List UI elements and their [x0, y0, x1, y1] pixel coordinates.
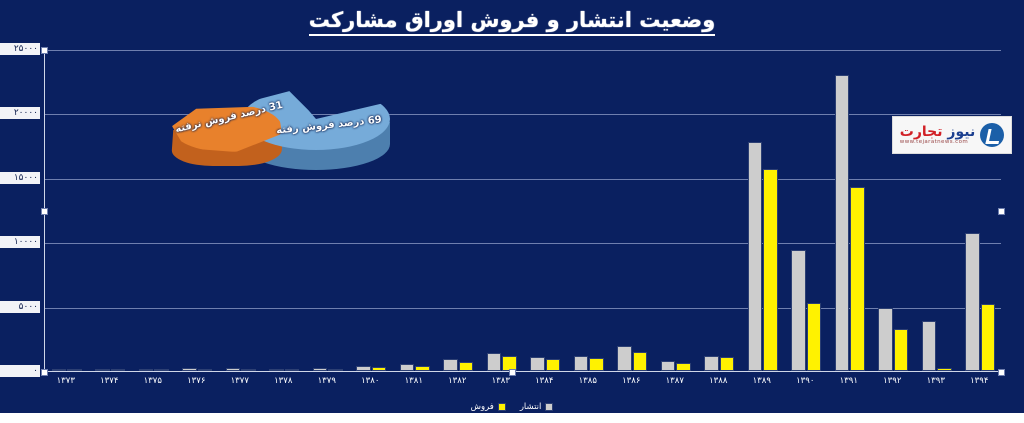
- y-axis-tick-label: ۵۰۰۰: [0, 301, 40, 313]
- legend-swatch-issue: [545, 403, 553, 411]
- x-axis-tick-label: ۱۳۷۷: [231, 376, 249, 386]
- bar-sale[interactable]: [894, 329, 908, 372]
- bottom-strip: [0, 413, 1024, 423]
- legend-item[interactable]: انتشار: [520, 402, 554, 412]
- bar-sale[interactable]: [546, 359, 560, 371]
- x-axis-tick-label: ۱۳۸۲: [448, 376, 466, 386]
- arrow-circle-icon: [980, 123, 1004, 147]
- bar-group: [922, 50, 952, 371]
- bar-issue[interactable]: [182, 368, 196, 371]
- pie-chart[interactable]: 69 درصد فروش رفته 31 درصد فروش نرفته: [158, 72, 398, 182]
- logo-text: نیوز تجارت www.tejaratnews.com: [900, 125, 975, 146]
- bar-group: [95, 50, 125, 371]
- x-axis-tick-label: ۱۳۷۸: [274, 376, 292, 386]
- x-axis-tick-label: ۱۳۷۶: [187, 376, 205, 386]
- bar-issue[interactable]: [313, 368, 327, 371]
- x-axis-tick-label: ۱۳۷۴: [100, 376, 118, 386]
- bar-group: [52, 50, 82, 371]
- x-axis: ۱۳۷۳۱۳۷۴۱۳۷۵۱۳۷۶۱۳۷۷۱۳۷۸۱۳۷۹۱۳۸۰۱۳۸۱۱۳۸۲…: [44, 374, 1001, 396]
- bar-sale[interactable]: [328, 369, 342, 371]
- x-axis-tick-label: ۱۳۸۸: [709, 376, 727, 386]
- bar-sale[interactable]: [415, 366, 429, 371]
- bar-issue[interactable]: [356, 366, 370, 371]
- bar-issue[interactable]: [748, 142, 762, 371]
- bar-issue[interactable]: [139, 369, 153, 371]
- bar-sale[interactable]: [67, 369, 81, 371]
- bar-issue[interactable]: [704, 356, 718, 371]
- x-axis-tick-label: ۱۳۹۰: [796, 376, 814, 386]
- x-axis-tick-label: ۱۳۹۴: [970, 376, 988, 386]
- chart-title-text: وضعیت انتشار و فروش اوراق مشارکت: [309, 8, 716, 36]
- x-axis-tick-label: ۱۳۸۶: [622, 376, 640, 386]
- logo-url: www.tejaratnews.com: [900, 139, 968, 145]
- bar-issue[interactable]: [965, 233, 979, 371]
- logo-name-part2: نیوز: [947, 124, 975, 140]
- bar-issue[interactable]: [443, 359, 457, 371]
- bar-sale[interactable]: [459, 362, 473, 371]
- bar-group: [443, 50, 473, 371]
- x-axis-tick-label: ۱۳۸۹: [753, 376, 771, 386]
- bar-issue[interactable]: [400, 364, 414, 371]
- bar-sale[interactable]: [154, 369, 168, 371]
- bar-sale[interactable]: [807, 303, 821, 371]
- bar-group: [530, 50, 560, 371]
- bar-sale[interactable]: [241, 369, 255, 371]
- chart-screenshot: وضعیت انتشار و فروش اوراق مشارکت ۲۵۰۰۰۲۰…: [0, 0, 1024, 423]
- bar-sale[interactable]: [676, 363, 690, 371]
- y-axis-tick-label: ۱۰۰۰۰: [0, 236, 40, 248]
- bar-sale[interactable]: [372, 367, 386, 371]
- bar-group: [835, 50, 865, 371]
- bar-group: [748, 50, 778, 371]
- bar-group: [791, 50, 821, 371]
- selection-handle-top-left[interactable]: [41, 47, 48, 54]
- x-axis-tick-label: ۱۳۸۱: [405, 376, 423, 386]
- bar-sale[interactable]: [763, 169, 777, 371]
- logo-name-part1: تجارت: [900, 124, 943, 140]
- bar-sale[interactable]: [285, 369, 299, 371]
- bar-group: [574, 50, 604, 371]
- bar-sale[interactable]: [937, 368, 951, 371]
- y-axis-tick-label: ۲۰۰۰۰: [0, 107, 40, 119]
- x-axis-tick-label: ۱۳۹۱: [840, 376, 858, 386]
- bar-issue[interactable]: [922, 321, 936, 371]
- bar-sale[interactable]: [720, 357, 734, 371]
- bar-group: [400, 50, 430, 371]
- bar-issue[interactable]: [661, 361, 675, 371]
- x-axis-tick-label: ۱۳۸۵: [579, 376, 597, 386]
- x-axis-tick-label: ۱۳۹۳: [927, 376, 945, 386]
- bar-sale[interactable]: [850, 187, 864, 371]
- logo-name: نیوز تجارت: [900, 125, 975, 140]
- page-title: وضعیت انتشار و فروش اوراق مشارکت: [0, 8, 1024, 32]
- y-axis-tick-label: ۲۵۰۰۰: [0, 43, 40, 55]
- bar-sale[interactable]: [589, 358, 603, 371]
- legend-item[interactable]: فروش: [471, 402, 506, 412]
- bar-issue[interactable]: [226, 368, 240, 371]
- bar-sale[interactable]: [633, 352, 647, 371]
- bar-issue[interactable]: [95, 369, 109, 371]
- bar-sale[interactable]: [981, 304, 995, 371]
- bar-issue[interactable]: [835, 75, 849, 371]
- bar-sale[interactable]: [111, 369, 125, 371]
- bar-issue[interactable]: [530, 357, 544, 371]
- bar-issue[interactable]: [487, 353, 501, 371]
- bar-group: [704, 50, 734, 371]
- legend-label: فروش: [471, 402, 494, 412]
- bar-group: [965, 50, 995, 371]
- y-axis-tick-label: ۰: [0, 365, 40, 377]
- bar-issue[interactable]: [617, 346, 631, 371]
- x-axis-tick-label: ۱۳۸۳: [492, 376, 510, 386]
- bar-group: [661, 50, 691, 371]
- bar-issue[interactable]: [878, 308, 892, 371]
- legend-swatch-sale: [498, 403, 506, 411]
- x-axis-tick-label: ۱۳۸۴: [535, 376, 553, 386]
- bar-group: [487, 50, 517, 371]
- bar-group: [878, 50, 908, 371]
- x-axis-tick-label: ۱۳۷۵: [144, 376, 162, 386]
- y-axis-tick-label: ۱۵۰۰۰: [0, 172, 40, 184]
- selection-handle-middle-left[interactable]: [41, 208, 48, 215]
- bar-issue[interactable]: [574, 356, 588, 371]
- x-axis-tick-label: ۱۳۷۳: [57, 376, 75, 386]
- chart-legend: انتشارفروش: [0, 402, 1024, 412]
- x-axis-tick-label: ۱۳۹۲: [883, 376, 901, 386]
- bar-issue[interactable]: [791, 250, 805, 371]
- x-axis-tick-label: ۱۳۷۹: [318, 376, 336, 386]
- x-axis-tick-label: ۱۳۸۷: [666, 376, 684, 386]
- x-axis-tick-label: ۱۳۸۰: [361, 376, 379, 386]
- watermark-logo: نیوز تجارت www.tejaratnews.com: [892, 116, 1012, 154]
- selection-handle-middle-right[interactable]: [998, 208, 1005, 215]
- bar-group: [617, 50, 647, 371]
- bar-issue[interactable]: [269, 369, 283, 371]
- bar-sale[interactable]: [198, 369, 212, 371]
- legend-label: انتشار: [520, 402, 542, 412]
- bar-issue[interactable]: [52, 369, 66, 371]
